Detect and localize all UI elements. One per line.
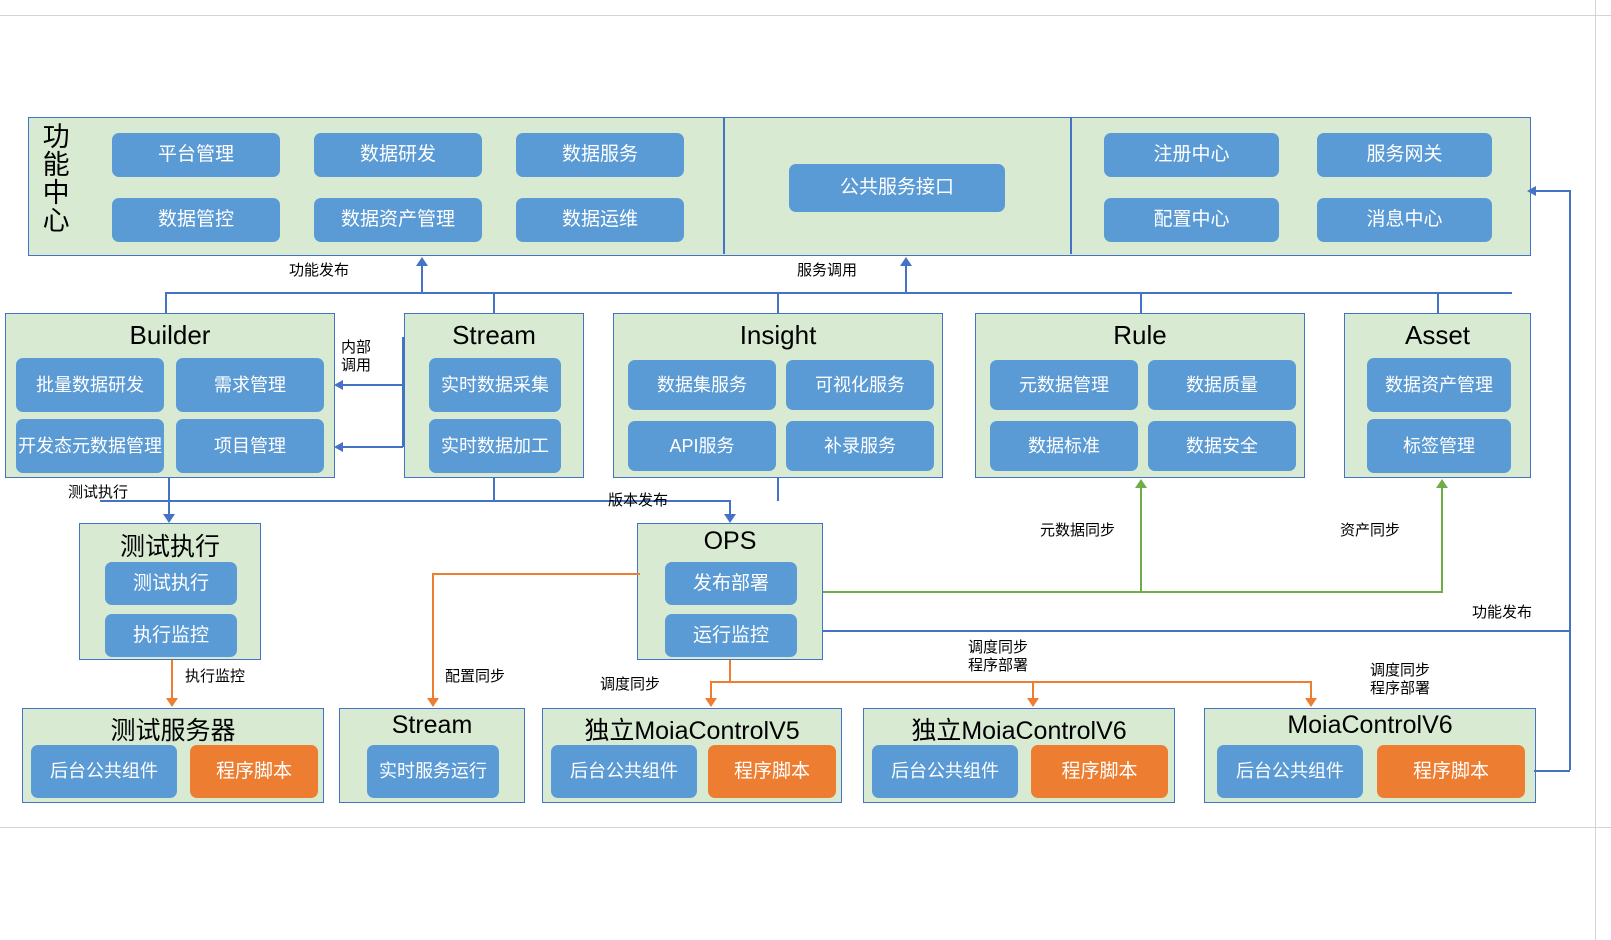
green-arrow-rule: [1135, 479, 1147, 488]
chip-realtime-service-run[interactable]: 实时服务运行: [367, 745, 499, 798]
orange-arrow-v5: [705, 698, 717, 707]
frame-bottom: [0, 827, 1611, 828]
chip-metadata-management[interactable]: 元数据管理: [990, 360, 1138, 410]
orange-arrow-exec-monitor: [166, 698, 178, 707]
box-ops-title: OPS: [638, 527, 822, 556]
server-standalone-moiacontrolv5: 独立MoiaControlV5 后台公共组件 程序脚本: [542, 708, 842, 803]
drop-insight-to-bus: [777, 478, 779, 501]
module-asset: Asset 数据资产管理 标签管理: [1344, 313, 1531, 478]
band-divider-1: [723, 118, 725, 254]
orange-config-riser: [432, 573, 434, 702]
server-stream-title: Stream: [340, 711, 524, 740]
arrow-head-service-call: [900, 257, 912, 266]
orange-stem-exec-monitor: [171, 660, 173, 702]
chip-platform-management[interactable]: 平台管理: [112, 133, 280, 177]
label-config-sync: 配置同步: [445, 668, 505, 686]
green-riser-asset: [1441, 487, 1443, 592]
label-feature-publish-right: 功能发布: [1472, 604, 1532, 622]
internal-call-arrow-2: [334, 442, 343, 452]
label-exec-monitor: 执行监控: [185, 668, 245, 686]
chip-data-service[interactable]: 数据服务: [516, 133, 684, 177]
arrow-version-publish: [724, 514, 736, 523]
label-internal-call: 内部 调用: [341, 339, 371, 375]
chip-data-asset-management[interactable]: 数据资产管理: [314, 198, 482, 242]
module-rule: Rule 元数据管理 数据质量 数据标准 数据安全: [975, 313, 1305, 478]
drop-stream-to-bus: [493, 478, 495, 501]
module-insight-title: Insight: [614, 320, 942, 351]
module-asset-title: Asset: [1345, 320, 1530, 351]
arrow-stem-feature-publish: [421, 265, 423, 293]
internal-call-arrow-1: [334, 380, 343, 390]
chip-dev-metadata-management[interactable]: 开发态元数据管理: [16, 419, 164, 473]
label-asset-sync: 资产同步: [1340, 522, 1400, 540]
chip-registry-center[interactable]: 注册中心: [1104, 133, 1279, 177]
chip-service-gateway[interactable]: 服务网关: [1317, 133, 1492, 177]
orange-arrow-config-sync: [427, 698, 439, 707]
arrow-test-execute: [163, 514, 175, 523]
orange-ops-bus: [710, 681, 1312, 683]
riser-builder: [165, 292, 167, 314]
label-version-publish: 版本发布: [608, 492, 668, 510]
chip-backend-common-component-4[interactable]: 后台公共组件: [1217, 745, 1363, 798]
chip-data-standard[interactable]: 数据标准: [990, 421, 1138, 471]
blue-right-riser: [1569, 190, 1571, 632]
server-standalone-moiacontrolv5-title: 独立MoiaControlV5: [543, 711, 841, 747]
internal-call-line-1: [343, 384, 403, 386]
module-insight: Insight 数据集服务 可视化服务 API服务 补录服务: [613, 313, 943, 478]
server-test-server: 测试服务器 后台公共组件 程序脚本: [22, 708, 324, 803]
internal-call-riser: [402, 337, 404, 447]
orange-ops-drop: [729, 660, 731, 682]
label-metadata-sync: 元数据同步: [1040, 522, 1115, 540]
orange-config-arm: [432, 573, 640, 575]
blue-right-bus: [823, 630, 1571, 632]
label-feature-publish-top: 功能发布: [289, 262, 349, 280]
chip-dataset-service[interactable]: 数据集服务: [628, 360, 776, 410]
architecture-diagram: 功能中心 平台管理 数据研发 数据服务 数据管控 数据资产管理 数据运维 公共服…: [0, 0, 1611, 940]
server-stream: Stream 实时服务运行: [339, 708, 525, 803]
internal-call-line-2: [343, 446, 403, 448]
server-test-server-title: 测试服务器: [23, 711, 323, 747]
chip-program-script-3[interactable]: 程序脚本: [1031, 745, 1168, 798]
box-ops: OPS 发布部署 运行监控: [637, 523, 823, 660]
chip-message-center[interactable]: 消息中心: [1317, 198, 1492, 242]
chip-realtime-data-processing[interactable]: 实时数据加工: [429, 419, 561, 473]
module-stream-title: Stream: [405, 320, 583, 351]
bus-tier2-top: [165, 292, 1512, 294]
chip-data-operations[interactable]: 数据运维: [516, 198, 684, 242]
chip-supplement-service[interactable]: 补录服务: [786, 421, 934, 471]
server-moiacontrolv6: MoiaControlV6 后台公共组件 程序脚本: [1204, 708, 1536, 803]
chip-visualization-service[interactable]: 可视化服务: [786, 360, 934, 410]
blue-right-top: [1535, 190, 1571, 192]
chip-config-center[interactable]: 配置中心: [1104, 198, 1279, 242]
box-test-execution-title: 测试执行: [80, 527, 260, 563]
green-riser-rule: [1140, 487, 1142, 592]
arrow-stem-service-call: [905, 265, 907, 293]
chip-program-script-2[interactable]: 程序脚本: [708, 745, 836, 798]
chip-data-security[interactable]: 数据安全: [1148, 421, 1296, 471]
chip-program-script-1[interactable]: 程序脚本: [190, 745, 318, 798]
band-divider-2: [1070, 118, 1072, 254]
chip-api-service[interactable]: API服务: [628, 421, 776, 471]
label-schedule-deploy-1: 调度同步 程序部署: [968, 639, 1028, 675]
function-center-label: 功能中心: [39, 122, 68, 234]
blue-right-lower-tail: [1534, 770, 1570, 772]
chip-data-quality[interactable]: 数据质量: [1148, 360, 1296, 410]
green-bus: [823, 591, 1443, 593]
server-moiacontrolv6-title: MoiaControlV6: [1205, 711, 1535, 740]
chip-data-development[interactable]: 数据研发: [314, 133, 482, 177]
blue-right-lower-riser: [1569, 630, 1571, 770]
frame-top: [0, 15, 1611, 16]
chip-public-service-interface[interactable]: 公共服务接口: [789, 164, 1005, 212]
frame-right: [1595, 0, 1596, 940]
function-center-band: 功能中心 平台管理 数据研发 数据服务 数据管控 数据资产管理 数据运维 公共服…: [28, 117, 1531, 256]
chip-backend-common-component-2[interactable]: 后台公共组件: [551, 745, 697, 798]
module-builder-title: Builder: [6, 320, 334, 351]
chip-tag-management[interactable]: 标签管理: [1367, 419, 1511, 473]
label-schedule-sync: 调度同步: [600, 676, 660, 694]
chip-release-deploy[interactable]: 发布部署: [665, 562, 797, 605]
chip-program-script-4[interactable]: 程序脚本: [1377, 745, 1525, 798]
blue-right-arrow: [1527, 186, 1536, 196]
label-schedule-deploy-2: 调度同步 程序部署: [1370, 662, 1430, 698]
chip-batch-data-development[interactable]: 批量数据研发: [16, 358, 164, 412]
riser-insight: [777, 292, 779, 314]
server-standalone-moiacontrolv6: 独立MoiaControlV6 后台公共组件 程序脚本: [863, 708, 1175, 803]
chip-test-execution[interactable]: 测试执行: [105, 562, 237, 605]
arrow-head-feature-publish: [416, 257, 428, 266]
module-builder: Builder 批量数据研发 需求管理 开发态元数据管理 项目管理: [5, 313, 335, 478]
module-stream: Stream 实时数据采集 实时数据加工: [404, 313, 584, 478]
orange-arrow-v6b: [1305, 698, 1317, 707]
box-test-execution: 测试执行 测试执行 执行监控: [79, 523, 261, 660]
orange-arrow-v6a: [1027, 698, 1039, 707]
chip-runtime-monitor[interactable]: 运行监控: [665, 614, 797, 657]
server-standalone-moiacontrolv6-title: 独立MoiaControlV6: [864, 711, 1174, 747]
riser-asset: [1437, 292, 1439, 314]
chip-asset-data-asset-management[interactable]: 数据资产管理: [1367, 358, 1511, 412]
chip-requirement-management[interactable]: 需求管理: [176, 358, 324, 412]
chip-execution-monitor[interactable]: 执行监控: [105, 614, 237, 657]
chip-backend-common-component-1[interactable]: 后台公共组件: [31, 745, 177, 798]
module-rule-title: Rule: [976, 320, 1304, 351]
riser-stream: [493, 292, 495, 314]
chip-project-management[interactable]: 项目管理: [176, 419, 324, 473]
chip-data-governance[interactable]: 数据管控: [112, 198, 280, 242]
green-arrow-asset: [1436, 479, 1448, 488]
chip-backend-common-component-3[interactable]: 后台公共组件: [872, 745, 1018, 798]
chip-realtime-data-collection[interactable]: 实时数据采集: [429, 358, 561, 412]
label-service-call: 服务调用: [797, 262, 857, 280]
riser-rule: [1140, 292, 1142, 314]
